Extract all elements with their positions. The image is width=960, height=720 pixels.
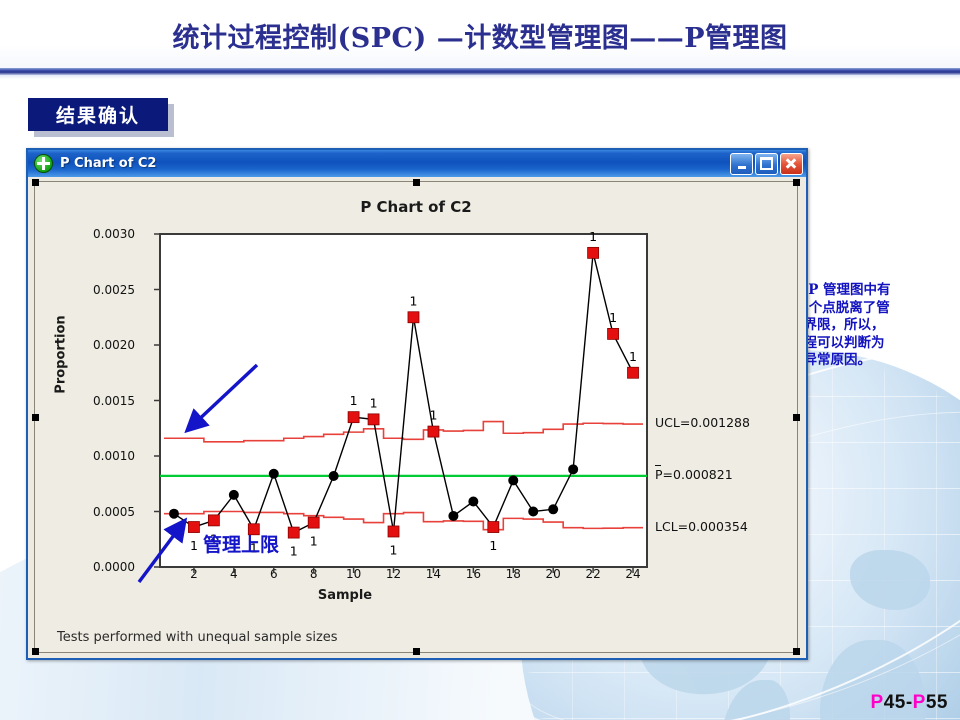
out-of-control-point[interactable]: [628, 367, 639, 378]
out-of-control-point[interactable]: [308, 517, 319, 528]
data-point[interactable]: [329, 471, 339, 481]
data-point[interactable]: [169, 509, 179, 519]
violation-label: 1: [390, 542, 398, 557]
out-of-control-point[interactable]: [288, 527, 299, 538]
minitab-chart-window[interactable]: P Chart of C2 P Chart of C2 Proportion: [26, 148, 808, 660]
data-point[interactable]: [508, 475, 518, 485]
violation-label: 1: [589, 229, 597, 244]
ucl-label: UCL=0.001288: [655, 415, 750, 430]
violation-label: 1: [410, 293, 418, 308]
center-line-value: =0.000821: [663, 467, 733, 482]
violation-label: 1: [310, 534, 318, 549]
window-title-bar[interactable]: P Chart of C2: [28, 150, 806, 177]
page-number-start: 45-: [884, 692, 913, 713]
analysis-note-line: 在 P 管理图中有: [790, 282, 954, 300]
page-number-end: 55: [926, 692, 948, 713]
out-of-control-point[interactable]: [388, 526, 399, 537]
slide: 统计过程控制(SPC) —计数型管理图——P管理图 结果确认 在 P 管理图中有…: [0, 0, 960, 720]
data-point[interactable]: [528, 507, 538, 517]
analysis-note-line: 工程可以判断为: [790, 335, 954, 353]
data-point[interactable]: [568, 464, 578, 474]
analysis-note-line: 有异常原因。: [790, 352, 954, 370]
close-icon[interactable]: [780, 153, 803, 175]
out-of-control-point[interactable]: [428, 426, 439, 437]
lcl-label: LCL=0.000354: [655, 519, 748, 534]
violation-label: 1: [429, 408, 437, 423]
violation-label: 1: [370, 395, 378, 410]
out-of-control-point[interactable]: [188, 522, 199, 533]
center-line-label: P=0.000821: [655, 467, 733, 482]
chart-canvas[interactable]: P Chart of C2 Proportion Sample Tests pe…: [34, 181, 798, 653]
section-badge-label: 结果确认: [28, 98, 168, 131]
maximize-icon[interactable]: [755, 153, 778, 175]
violation-label: 1: [609, 310, 617, 325]
title-divider: [0, 68, 960, 75]
violation-label: 1: [489, 538, 497, 553]
data-point[interactable]: [269, 469, 279, 479]
title-divider-light: [0, 75, 960, 79]
analysis-note-line: 14个点脱离了管: [790, 300, 954, 318]
out-of-control-point[interactable]: [588, 247, 599, 258]
out-of-control-point[interactable]: [348, 412, 359, 423]
minitab-plus-icon: [34, 154, 53, 173]
violation-label: 1: [190, 538, 198, 553]
window-controls: [730, 153, 803, 175]
page-number-prefix: P: [871, 692, 884, 713]
out-of-control-point[interactable]: [608, 328, 619, 339]
out-of-control-point[interactable]: [208, 515, 219, 526]
analysis-note-line: 理界限，所以，: [790, 317, 954, 335]
violation-label: 1: [629, 349, 637, 364]
data-point[interactable]: [229, 490, 239, 500]
page-number-prefix2: P: [913, 692, 926, 713]
data-point[interactable]: [468, 497, 478, 507]
p-bar-symbol: P: [655, 467, 663, 482]
section-badge: 结果确认: [28, 98, 168, 131]
violation-label: 1: [290, 544, 298, 559]
title-band: 统计过程控制(SPC) —计数型管理图——P管理图: [0, 0, 960, 74]
analysis-note: 在 P 管理图中有 14个点脱离了管 理界限，所以， 工程可以判断为 有异常原因…: [790, 282, 954, 370]
window-body: P Chart of C2 Proportion Sample Tests pe…: [28, 177, 806, 658]
minimize-icon[interactable]: [730, 153, 753, 175]
data-point[interactable]: [448, 511, 458, 521]
upper-limit-annotation: 管理上限: [203, 530, 279, 557]
window-title-text: P Chart of C2: [60, 156, 156, 171]
violation-label: 1: [350, 393, 358, 408]
out-of-control-point[interactable]: [408, 312, 419, 323]
out-of-control-point[interactable]: [488, 522, 499, 533]
data-point[interactable]: [548, 504, 558, 514]
out-of-control-point[interactable]: [368, 414, 379, 425]
page-title: 统计过程控制(SPC) —计数型管理图——P管理图: [0, 16, 960, 55]
page-number: P45-P55: [871, 692, 948, 714]
plot-frame: [160, 234, 647, 567]
